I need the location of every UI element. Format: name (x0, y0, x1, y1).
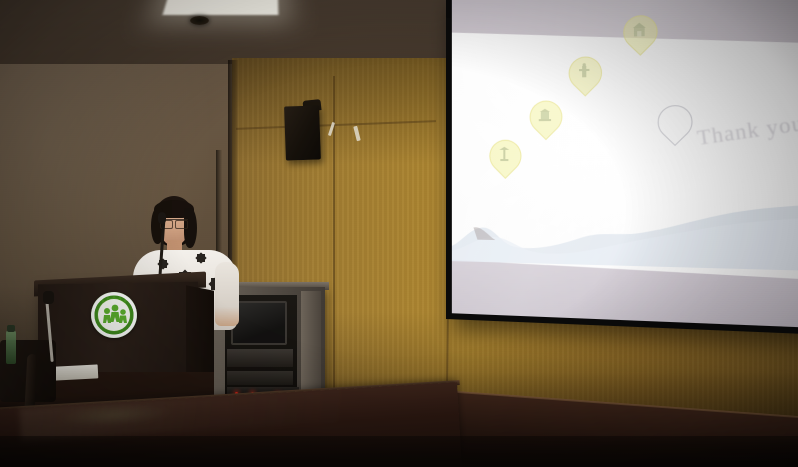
emblem-figures-icon (91, 292, 137, 338)
gooseneck-microphone-head (158, 212, 166, 224)
pin-glyph-tower-icon (576, 63, 593, 80)
map-pin-outline (658, 105, 691, 148)
water-bottle (6, 330, 16, 364)
ceiling-light-panel (162, 0, 278, 15)
wall-speaker-box (284, 105, 321, 160)
map-pin-marker (569, 56, 600, 98)
slide-landscape-graphic (452, 189, 798, 271)
pin-glyph-building-icon (631, 21, 648, 38)
pin-glyph-monument-icon (537, 107, 553, 124)
recessed-downlight-icon (190, 16, 209, 25)
rack-shelf (227, 371, 293, 385)
map-pin-marker (623, 15, 655, 58)
foreground-shadow (0, 436, 798, 467)
rack-shelf (227, 349, 293, 367)
map-pin-marker (489, 140, 519, 181)
pin-glyph-landmark-icon (496, 146, 512, 162)
crt-monitor (231, 301, 287, 345)
conference-photo-scene: Thank you (0, 0, 798, 467)
floral-motif (197, 254, 205, 262)
organization-emblem (91, 292, 137, 338)
arm-right (215, 262, 239, 326)
bottle-cap (7, 325, 15, 332)
projection-screen-surface: Thank you (452, 0, 798, 328)
rack-door (301, 291, 321, 403)
table-microphone-head (43, 291, 54, 304)
map-pin-marker (530, 100, 561, 141)
projection-screen-frame: Thank you (446, 0, 798, 335)
